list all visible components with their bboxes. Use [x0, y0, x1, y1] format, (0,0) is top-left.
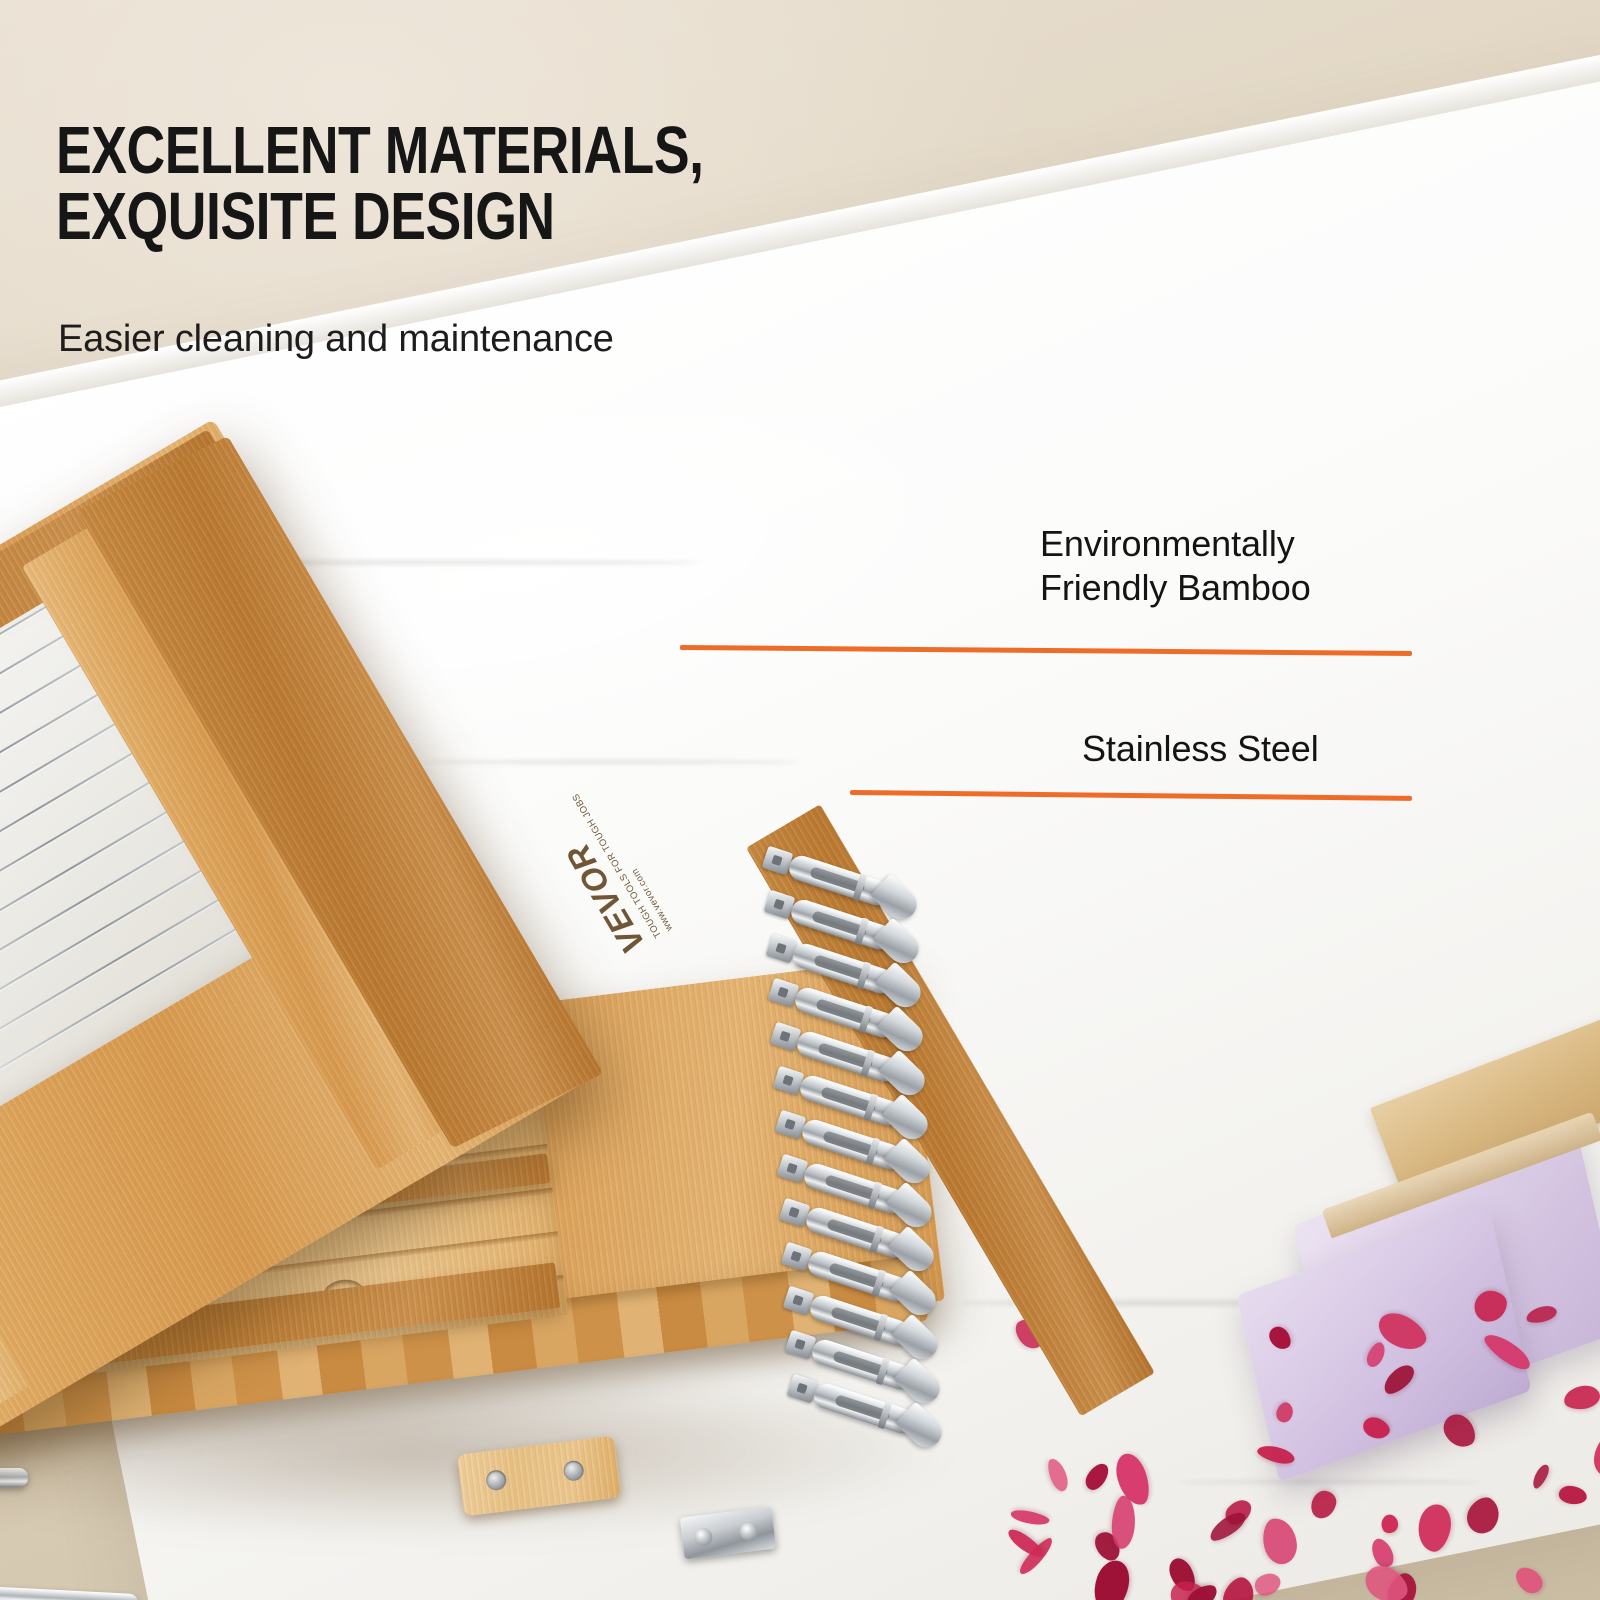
page-title: EXCELLENT MATERIALS, EXQUISITE DESIGN	[56, 118, 744, 251]
callout-bamboo-label: Environmentally Friendly Bamboo	[1040, 522, 1311, 610]
rose-petal	[1559, 1485, 1588, 1504]
callout-bamboo: Environmentally Friendly Bamboo	[1040, 522, 1311, 610]
rose-petal	[1261, 1516, 1298, 1565]
hinge-screw	[739, 1521, 759, 1541]
tensioner-clip	[774, 1110, 806, 1140]
callout-steel: Stainless Steel	[1082, 727, 1319, 771]
subheadline: Easier cleaning and maintenance	[58, 318, 614, 361]
soap-cutter-product: VEVOR TOUGH TOOLS FOR TOUGH JOBS www.vev…	[0, 190, 1040, 1520]
rose-petal	[1529, 1462, 1552, 1490]
mounting-bracket	[457, 1436, 621, 1517]
tensioner-clip	[772, 1066, 804, 1096]
hinge-screw	[693, 1527, 713, 1547]
rose-petal	[1413, 1502, 1455, 1555]
bracket-screw	[562, 1460, 584, 1482]
headline-block: EXCELLENT MATERIALS, EXQUISITE DESIGN	[56, 118, 916, 251]
product-feature-image: VEVOR TOUGH TOOLS FOR TOUGH JOBS www.vev…	[0, 0, 1600, 1600]
rose-petal	[1309, 1489, 1338, 1521]
wire-cutter-frame	[0, 193, 811, 1600]
rose-petal	[1460, 1492, 1507, 1540]
callout-steel-label: Stainless Steel	[1082, 727, 1319, 771]
soap-display-scene	[1130, 1010, 1600, 1600]
rose-petal	[1563, 1385, 1600, 1411]
tensioner-lever-array	[765, 840, 1025, 1470]
rose-petal	[1510, 1563, 1546, 1597]
rose-petal	[1584, 1422, 1600, 1482]
bracket-screw	[485, 1469, 507, 1491]
rose-petal	[1251, 1568, 1285, 1600]
rose-petal	[1378, 1512, 1401, 1535]
